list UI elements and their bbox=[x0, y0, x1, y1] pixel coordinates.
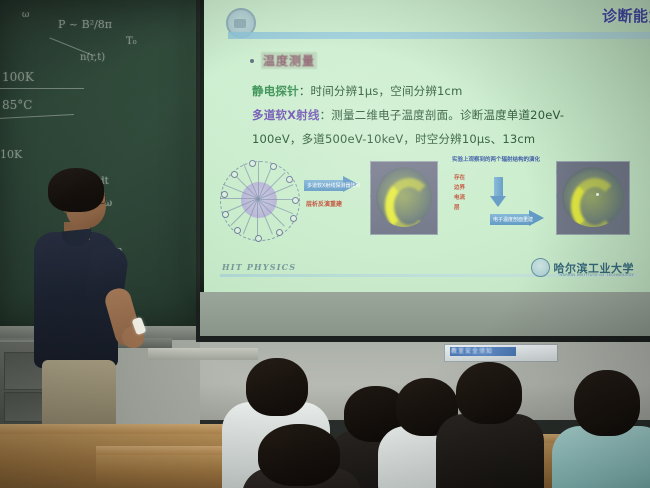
detector-node-1 bbox=[286, 176, 293, 183]
projection-screen: 诊断能力 温度测量 静电探针：时间分辨1μs，空间分辨1cm 多道软X射线：测量… bbox=[204, 0, 650, 292]
detector-node-9 bbox=[276, 229, 283, 236]
arrow2-label: 电子温度剖面重建 bbox=[493, 216, 533, 223]
detector-node-4 bbox=[231, 171, 238, 178]
chalk-note-1: 100K bbox=[2, 70, 34, 84]
student-3-head bbox=[456, 362, 522, 424]
detector-node-7 bbox=[234, 227, 241, 234]
slide-footer-left: HIT PHYSICS bbox=[222, 262, 296, 272]
student-4-head bbox=[258, 424, 340, 486]
spoke-4 bbox=[257, 199, 258, 237]
student-0-head bbox=[246, 358, 308, 416]
diagram-arrow-1: 多道软X射线探测器阵列 bbox=[304, 177, 360, 193]
slide-body-line-2: 多道软X射线：测量二维电子温度剖面。诊断温度单道20eV- bbox=[252, 107, 564, 123]
plasma-left-axis-mid: 0.0 bbox=[370, 194, 376, 198]
detector-array-diagram bbox=[218, 159, 300, 241]
plasma-right-marker bbox=[596, 193, 599, 196]
university-crest-icon bbox=[531, 258, 550, 277]
plasma-right-crescent bbox=[571, 178, 619, 227]
line2-text: 测量二维电子温度剖面。诊断温度单道20eV- bbox=[331, 108, 564, 122]
slide-diagram: 多道软X射线探测器阵列 层析反演重建 0.8 0.0 -0.8 0.0 实验上观… bbox=[204, 155, 650, 255]
plasma-right-axis-top: 0.8 bbox=[556, 170, 562, 174]
spoke-8 bbox=[220, 198, 258, 199]
plasma-left-field bbox=[376, 167, 432, 227]
student-teal-shirt bbox=[560, 370, 650, 488]
chalk-note-5: n(r,t) bbox=[80, 52, 105, 63]
plasma-left-axis-top: 0.8 bbox=[370, 170, 376, 174]
detector-node-0 bbox=[292, 197, 299, 204]
diagram-mid-text-blue: 实验上观察到的两个辐射结构的演化 bbox=[452, 155, 540, 163]
slide-bullet-row: 温度测量 bbox=[250, 52, 317, 69]
student-5-head bbox=[574, 370, 640, 436]
slide-body-line-3: 100eV，多道500eV-10keV，时空分辨10μs、13cm bbox=[252, 131, 535, 147]
chalk-note-0: P ~ B²/8π bbox=[58, 18, 112, 31]
diagram-arrow-2: 电子温度剖面重建 bbox=[490, 211, 546, 227]
screen-lower-frame bbox=[200, 292, 650, 336]
diagram-mid-red-3: 层 bbox=[454, 203, 460, 211]
presenter-hair bbox=[48, 168, 104, 212]
line2-label: 多道软X射线 bbox=[252, 108, 320, 122]
presenter bbox=[30, 168, 142, 448]
chalk-mark-a: ω bbox=[22, 10, 29, 20]
wall-sign-text: 教室安全须知 bbox=[451, 346, 493, 355]
detector-node-3 bbox=[249, 160, 256, 167]
diagram-down-arrow bbox=[490, 177, 506, 207]
arrow1-sublabel: 层析反演重建 bbox=[306, 199, 342, 208]
student-dark-jacket bbox=[438, 362, 542, 488]
plasma-left-axis-bot: -0.8 bbox=[370, 218, 377, 222]
plasma-right-axis-bot: -0.8 bbox=[556, 218, 563, 222]
plasma-tomography-right: 0.8 0.0 -0.8 bbox=[556, 161, 630, 235]
student-foreground bbox=[248, 424, 354, 488]
line1-label: 静电探针 bbox=[252, 84, 299, 98]
diagram-mid-red-1: 边界 bbox=[454, 183, 465, 191]
lecture-hall-photo: P ~ B²/8π 100K 85°C 10K T₀ n(r,t) ω dn/d… bbox=[0, 0, 650, 488]
student-3-torso bbox=[436, 414, 544, 488]
chalk-stroke-3 bbox=[49, 37, 92, 55]
diagram-mid-red-0: 存在 bbox=[454, 173, 465, 181]
plasma-right-field bbox=[562, 167, 624, 227]
detector-node-8 bbox=[255, 235, 262, 242]
detector-node-6 bbox=[222, 211, 229, 218]
down-arrow-body bbox=[494, 177, 503, 197]
diagram-mid-red-2: 电流 bbox=[454, 193, 465, 201]
slide-header-rule bbox=[228, 32, 650, 39]
line2-sep: ： bbox=[320, 108, 332, 122]
spoke-0 bbox=[258, 199, 296, 200]
plasma-left-axis-x: 0.0 bbox=[397, 228, 403, 232]
chalk-underline-1 bbox=[0, 88, 84, 89]
plasma-tomography-left: 0.8 0.0 -0.8 0.0 bbox=[370, 161, 438, 235]
university-name-en: HARBIN INSTITUTE OF TECHNOLOGY bbox=[560, 273, 634, 277]
plasma-left-crescent bbox=[385, 178, 432, 227]
slide-body-line-1: 静电探针：时间分辨1μs，空间分辨1cm bbox=[252, 83, 462, 99]
bullet-dot-icon bbox=[250, 59, 254, 63]
chalk-note-3: 10K bbox=[0, 148, 22, 161]
slide-header-title: 诊断能力 bbox=[602, 5, 650, 26]
spoke-12 bbox=[258, 161, 259, 199]
line1-text: 时间分辨1μs，空间分辨1cm bbox=[311, 84, 463, 98]
slide-bullet-title: 温度测量 bbox=[261, 52, 317, 69]
arrow1-label: 多道软X射线探测器阵列 bbox=[307, 182, 360, 189]
detector-node-10 bbox=[290, 215, 297, 222]
bench-front-left-top bbox=[0, 424, 240, 434]
detector-node-5 bbox=[221, 191, 228, 198]
chalk-underline-2 bbox=[0, 114, 74, 119]
chalk-note-2: 85°C bbox=[2, 98, 32, 112]
plasma-right-axis-mid: 0.0 bbox=[556, 194, 562, 198]
line1-sep: ： bbox=[299, 84, 311, 98]
down-arrow-head bbox=[490, 196, 506, 207]
presentation-slide: 诊断能力 温度测量 静电探针：时间分辨1μs，空间分辨1cm 多道软X射线：测量… bbox=[204, 0, 650, 292]
detector-node-2 bbox=[270, 163, 277, 170]
chalk-note-4: T₀ bbox=[126, 36, 137, 47]
